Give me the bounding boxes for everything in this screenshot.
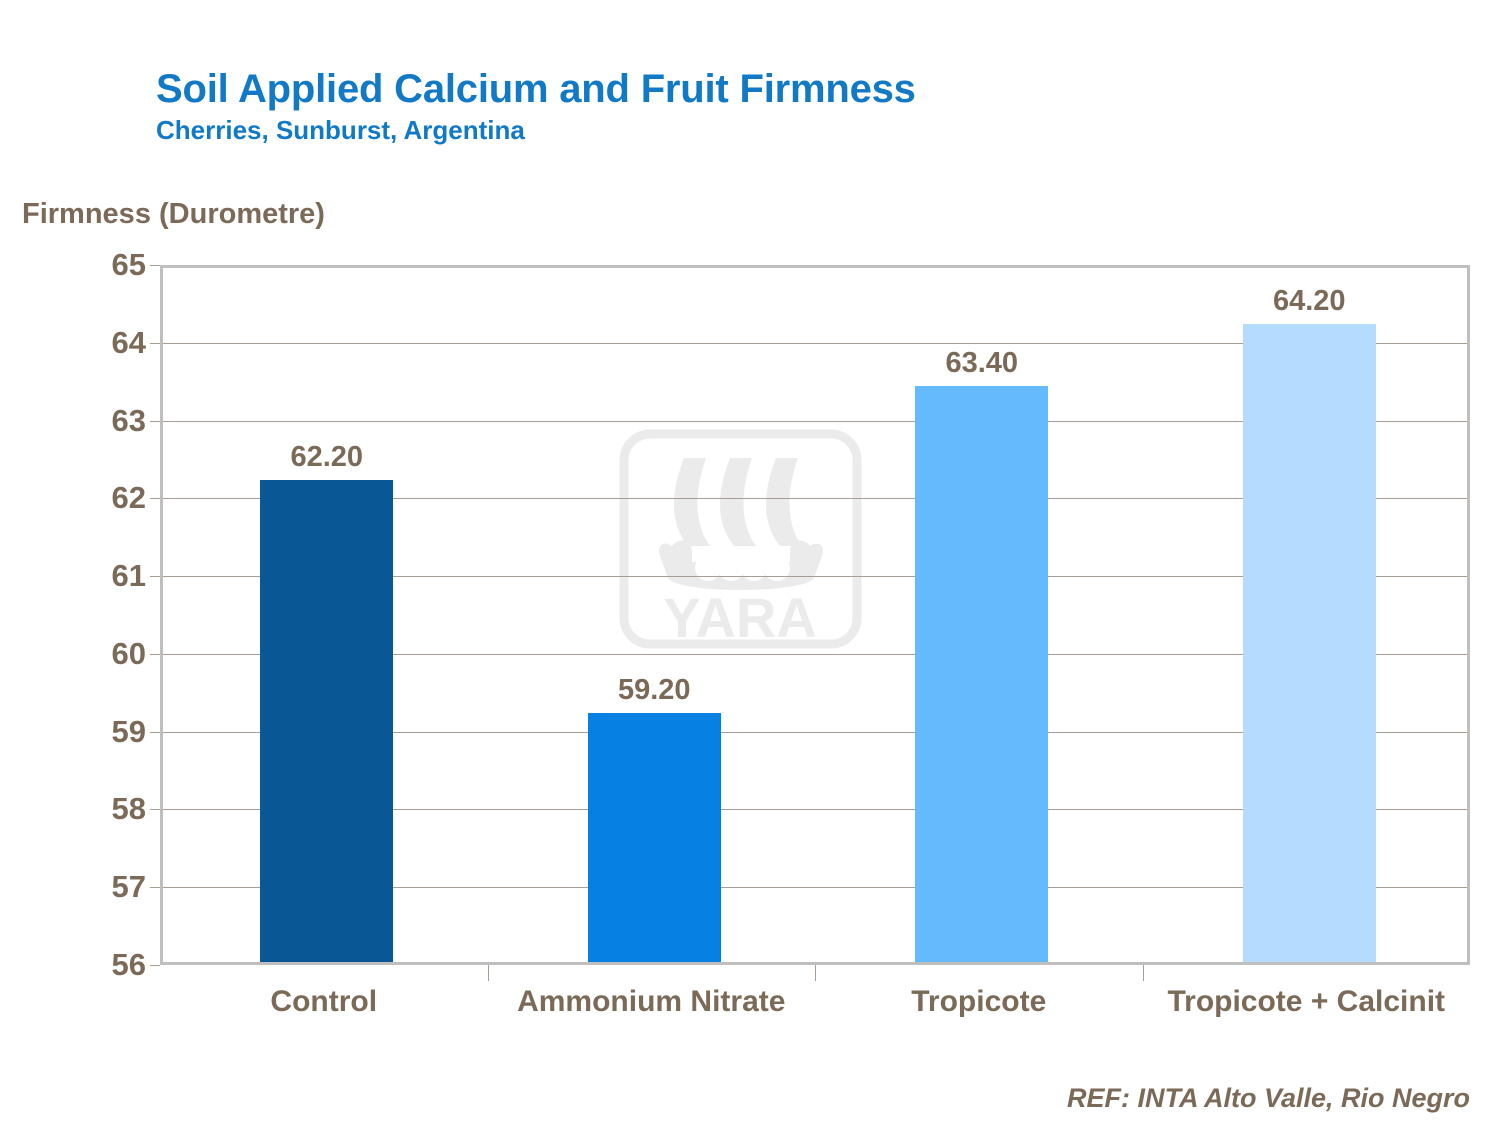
y-axis-tick-label: 60 xyxy=(112,636,146,672)
bar-tropicote[interactable] xyxy=(915,386,1048,962)
watermark-wordmark: YARA xyxy=(663,586,817,649)
bar-control[interactable] xyxy=(260,480,393,962)
sail-1 xyxy=(674,458,710,546)
y-axis-tick-mark xyxy=(150,887,160,888)
x-axis-category-label: Tropicote xyxy=(814,985,1144,1019)
y-axis-tick-label: 57 xyxy=(112,869,146,905)
y-axis-tick-label: 65 xyxy=(112,247,146,283)
sail-3 xyxy=(766,458,802,546)
watermark-border xyxy=(624,434,857,644)
chart-title-block: Soil Applied Calcium and Fruit Firmness … xyxy=(156,68,1356,145)
plot-area: YARA 62.2059.2063.4064.20 xyxy=(160,265,1470,965)
bar-tropicote-calcinit[interactable] xyxy=(1243,324,1376,962)
y-axis-tick-label: 62 xyxy=(112,480,146,516)
x-axis-category-label: Control xyxy=(159,985,489,1019)
y-axis-tick-label: 61 xyxy=(112,558,146,594)
y-axis-title: Firmness (Durometre) xyxy=(22,198,325,231)
yara-watermark-logo: YARA xyxy=(618,428,863,668)
y-axis-tick-mark xyxy=(150,809,160,810)
x-axis: ControlAmmonium NitrateTropicoteTropicot… xyxy=(160,965,1470,1085)
x-axis-tick-mark xyxy=(815,965,816,981)
y-axis-tick-label: 58 xyxy=(112,791,146,827)
y-axis-tick-mark xyxy=(150,421,160,422)
y-axis-tick-mark xyxy=(150,732,160,733)
x-axis-tick-mark xyxy=(1143,965,1144,981)
y-axis-tick-mark xyxy=(150,343,160,344)
bar-value-label: 62.20 xyxy=(290,441,363,474)
bar-value-label: 64.20 xyxy=(1273,285,1346,318)
bar-value-label: 59.20 xyxy=(618,674,691,707)
y-axis-tick-labels: 65646362616059585756 xyxy=(60,265,146,965)
y-axis-tick-label: 64 xyxy=(112,325,146,361)
reference-note: REF: INTA Alto Valle, Rio Negro xyxy=(1067,1083,1470,1114)
y-axis-tick-mark xyxy=(150,265,160,266)
y-axis-tick-mark xyxy=(150,654,160,655)
x-axis-category-label: Tropicote + Calcinit xyxy=(1141,985,1471,1019)
y-axis-tick-mark xyxy=(150,576,160,577)
x-axis-tick-mark xyxy=(488,965,489,981)
bar-ammonium-nitrate[interactable] xyxy=(588,713,721,962)
y-axis-tick-mark xyxy=(150,965,160,966)
page-title: Soil Applied Calcium and Fruit Firmness xyxy=(156,68,1356,110)
y-axis-tick-label: 56 xyxy=(112,947,146,983)
y-axis-tick-mark xyxy=(150,498,160,499)
bar-value-label: 63.40 xyxy=(945,347,1018,380)
ship-hull xyxy=(659,540,823,590)
sail-2 xyxy=(720,458,756,546)
plot-inner: YARA 62.2059.2063.4064.20 xyxy=(163,268,1467,962)
y-axis-tick-label: 59 xyxy=(112,714,146,750)
y-axis-tick-label: 63 xyxy=(112,403,146,439)
x-axis-category-label: Ammonium Nitrate xyxy=(486,985,816,1019)
chart-subtitle: Cherries, Sunburst, Argentina xyxy=(156,116,1356,145)
